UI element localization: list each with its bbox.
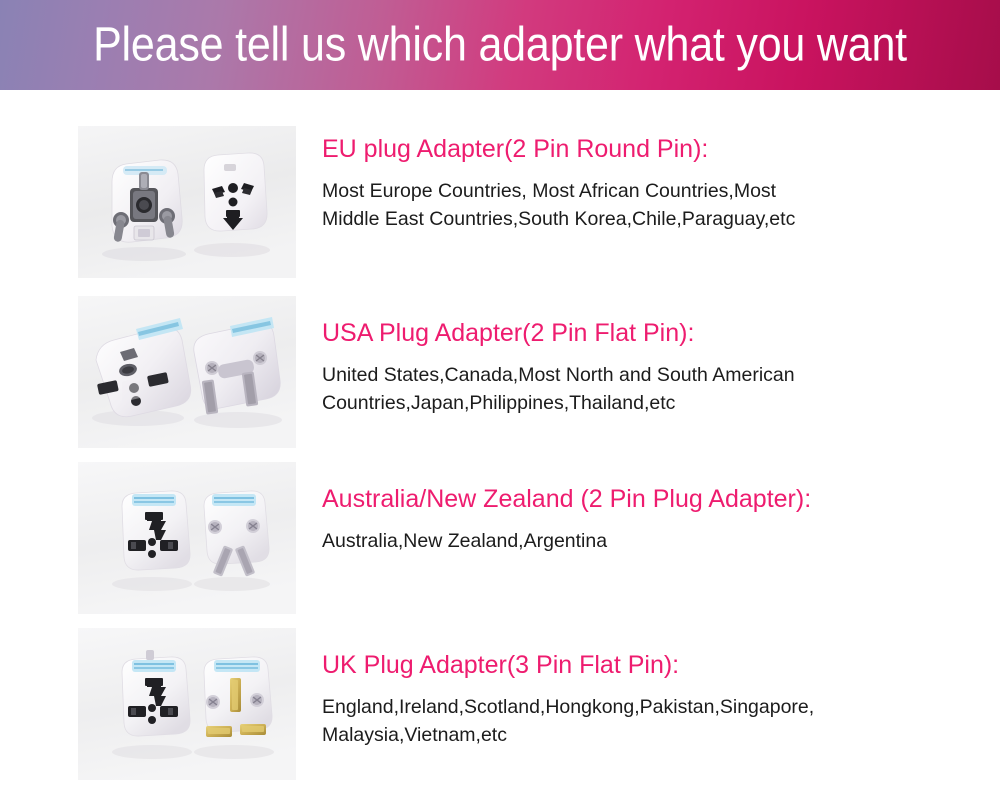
product-text: USA Plug Adapter(2 Pin Flat Pin): United… [296, 296, 1000, 417]
product-description-line: United States,Canada,Most North and Sout… [322, 362, 922, 390]
product-description-line: Australia,New Zealand,Argentina [322, 528, 922, 556]
product-row: UK Plug Adapter(3 Pin Flat Pin): England… [0, 628, 1000, 780]
product-text: EU plug Adapter(2 Pin Round Pin): Most E… [296, 126, 1000, 233]
product-description: England,Ireland,Scotland,Hongkong,Pakist… [322, 694, 922, 749]
product-row: EU plug Adapter(2 Pin Round Pin): Most E… [0, 126, 1000, 278]
product-description: United States,Canada,Most North and Sout… [322, 362, 922, 417]
adapter-selection-page: Please tell us which adapter what you wa… [0, 0, 1000, 800]
product-description-line: Most Europe Countries, Most African Coun… [322, 178, 922, 206]
australia-nz-plug-adapter-photo [78, 462, 296, 614]
product-heading: EU plug Adapter(2 Pin Round Pin): [322, 134, 1000, 164]
product-heading: UK Plug Adapter(3 Pin Flat Pin): [322, 650, 1000, 680]
usa-plug-adapter-photo [78, 296, 296, 448]
product-description-line: England,Ireland,Scotland,Hongkong,Pakist… [322, 694, 922, 722]
product-heading: USA Plug Adapter(2 Pin Flat Pin): [322, 318, 1000, 348]
banner-title: Please tell us which adapter what you wa… [93, 21, 907, 69]
product-description: Most Europe Countries, Most African Coun… [322, 178, 922, 233]
product-text: UK Plug Adapter(3 Pin Flat Pin): England… [296, 628, 1000, 749]
product-description-line: Countries,Japan,Philippines,Thailand,etc [322, 390, 922, 418]
product-heading: Australia/New Zealand (2 Pin Plug Adapte… [322, 484, 1000, 514]
product-description-line: Middle East Countries,South Korea,Chile,… [322, 206, 922, 234]
uk-plug-adapter-photo [78, 628, 296, 780]
product-list: EU plug Adapter(2 Pin Round Pin): Most E… [0, 90, 1000, 800]
product-row: Australia/New Zealand (2 Pin Plug Adapte… [0, 462, 1000, 614]
eu-plug-adapter-photo [78, 126, 296, 278]
header-banner: Please tell us which adapter what you wa… [0, 0, 1000, 90]
product-row: USA Plug Adapter(2 Pin Flat Pin): United… [0, 296, 1000, 448]
product-description-line: Malaysia,Vietnam,etc [322, 722, 922, 750]
product-text: Australia/New Zealand (2 Pin Plug Adapte… [296, 462, 1000, 556]
product-description: Australia,New Zealand,Argentina [322, 528, 922, 556]
